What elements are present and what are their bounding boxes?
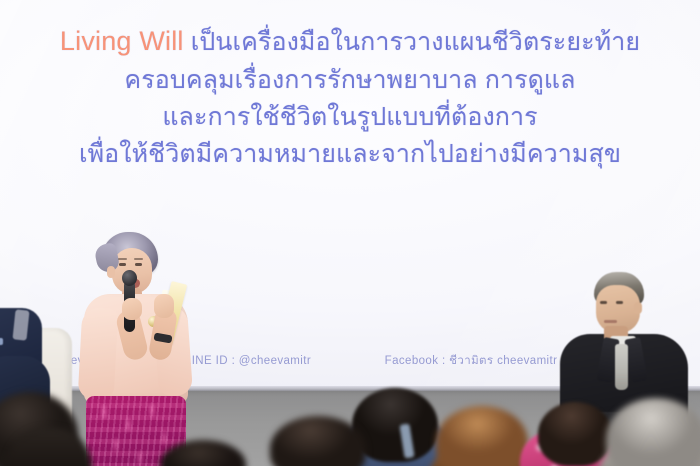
- audience-head-woman-floral: [538, 402, 612, 466]
- speaker-brow-right: [134, 258, 143, 260]
- slide-line-2: ครอบคลุมเรื่องการรักษาพยาบาล การดูแล: [0, 68, 700, 93]
- panelist-eye-left: [600, 301, 607, 304]
- speaker-eye-right: [135, 263, 142, 266]
- brand-living-will: Living Will: [60, 26, 184, 56]
- conference-photo: Living Will เป็นเครื่องมือในการวางแผนชีว…: [0, 0, 700, 466]
- speaker-brow-left: [118, 258, 127, 260]
- slide-line-3: และการใช้ชีวิตในรูปแบบที่ต้องการ: [0, 105, 700, 130]
- speaker-eye-left: [119, 263, 126, 266]
- panelist-mouth: [604, 320, 617, 323]
- panelist-ear: [634, 302, 642, 314]
- panelist-eye-right: [616, 301, 623, 304]
- speaker-hand-holding-mic: [122, 298, 142, 320]
- slide-line-4: เพื่อให้ชีวิตมีความหมายและจากไปอย่างมีคว…: [0, 142, 700, 167]
- slide-text-block: Living Will เป็นเครื่องมือในการวางแผนชีว…: [0, 28, 700, 175]
- speaker-sleeve-left: [78, 307, 119, 401]
- footer-facebook: Facebook : ชีวามิตร cheevamitr: [385, 352, 558, 370]
- slide-line-1: Living Will เป็นเครื่องมือในการวางแผนชีว…: [0, 28, 700, 55]
- microphone-icon: [122, 270, 137, 286]
- slide-line-1-thai: เป็นเครื่องมือในการวางแผนชีวิตระยะท้าย: [191, 28, 640, 56]
- speaker-ear: [107, 266, 115, 278]
- necktie: [615, 344, 628, 390]
- female-speaker: [78, 232, 228, 466]
- speaker-hand-holding-cards: [154, 294, 174, 318]
- lapel-pin-icon: [0, 338, 3, 345]
